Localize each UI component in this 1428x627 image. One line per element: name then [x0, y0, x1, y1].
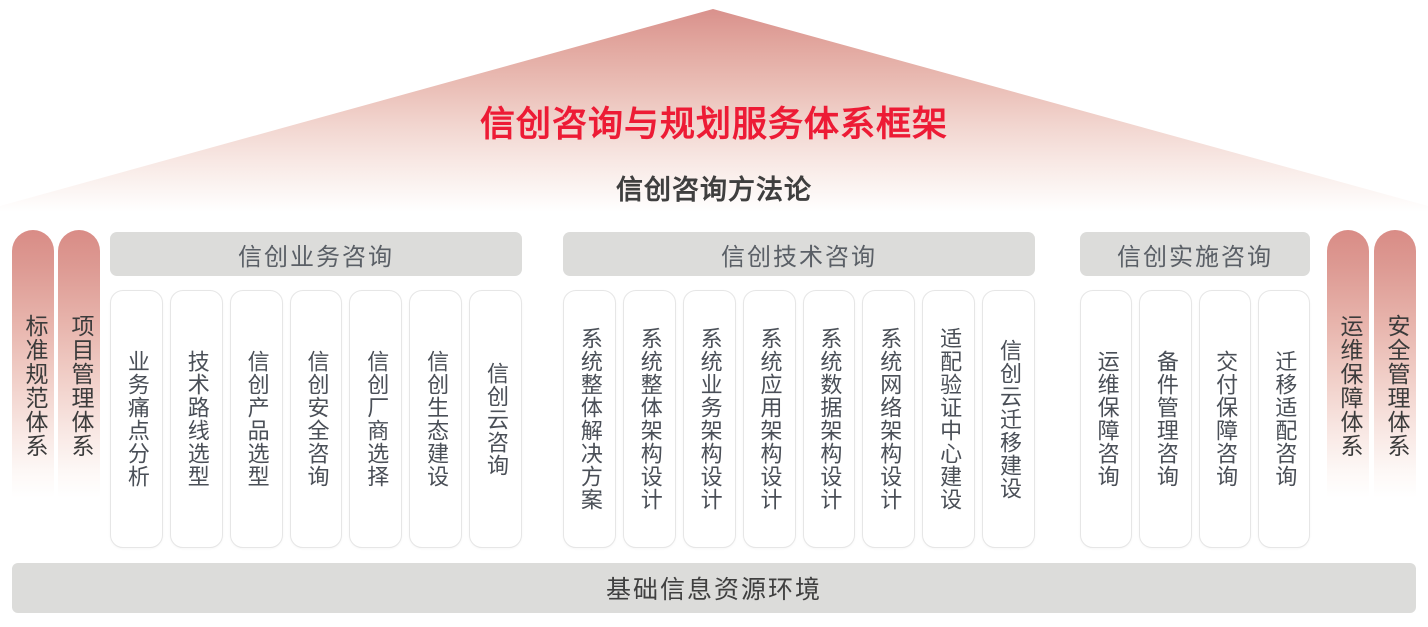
item-label: 运维保障咨询 — [1095, 350, 1118, 488]
item-card[interactable]: 系统整体解决方案 — [563, 290, 616, 548]
item-card[interactable]: 系统网络架构设计 — [862, 290, 915, 548]
item-card[interactable]: 信创云迁移建设 — [982, 290, 1035, 548]
item-card[interactable]: 运维保障咨询 — [1080, 290, 1132, 548]
group-header[interactable]: 信创实施咨询 — [1080, 232, 1310, 276]
pillar-standard-spec-system[interactable]: 标准规范体系 — [12, 230, 54, 498]
item-card[interactable]: 系统数据架构设计 — [803, 290, 856, 548]
item-card[interactable]: 系统业务架构设计 — [683, 290, 736, 548]
item-label: 技术路线选型 — [185, 350, 208, 488]
group-items: 运维保障咨询 备件管理咨询 交付保障咨询 迁移适配咨询 — [1080, 290, 1310, 548]
item-card[interactable]: 信创厂商选择 — [349, 290, 402, 548]
item-card[interactable]: 迁移适配咨询 — [1258, 290, 1310, 548]
pillar-label: 项目管理体系 — [65, 296, 93, 476]
item-card[interactable]: 信创产品选型 — [230, 290, 283, 548]
group-header[interactable]: 信创业务咨询 — [110, 232, 522, 276]
pillar-security-management-system[interactable]: 安全管理体系 — [1374, 230, 1416, 498]
foundation-bar[interactable]: 基础信息资源环境 — [12, 563, 1416, 613]
item-card[interactable]: 系统应用架构设计 — [743, 290, 796, 548]
pillar-ops-guarantee-system[interactable]: 运维保障体系 — [1327, 230, 1369, 498]
item-card[interactable]: 交付保障咨询 — [1199, 290, 1251, 548]
pillar-label: 运维保障体系 — [1334, 296, 1362, 476]
item-card[interactable]: 信创云咨询 — [469, 290, 522, 548]
item-label: 适配验证中心建设 — [937, 327, 960, 511]
group-items: 系统整体解决方案 系统整体架构设计 系统业务架构设计 系统应用架构设计 系统数据… — [563, 290, 1035, 548]
item-label: 业务痛点分析 — [125, 350, 148, 488]
pillar-label: 标准规范体系 — [19, 296, 47, 476]
item-card[interactable]: 技术路线选型 — [170, 290, 223, 548]
item-label: 迁移适配咨询 — [1272, 350, 1295, 488]
item-card[interactable]: 系统整体架构设计 — [623, 290, 676, 548]
diagram-canvas: 信创咨询与规划服务体系框架 信创咨询方法论 标准规范体系 项目管理体系 运维保障… — [0, 0, 1428, 627]
item-card[interactable]: 业务痛点分析 — [110, 290, 163, 548]
group-implementation-consulting: 信创实施咨询 运维保障咨询 备件管理咨询 交付保障咨询 迁移适配咨询 — [1080, 232, 1310, 276]
item-label: 信创云咨询 — [484, 362, 507, 477]
item-card[interactable]: 信创生态建设 — [409, 290, 462, 548]
item-label: 备件管理咨询 — [1154, 350, 1177, 488]
item-label: 系统数据架构设计 — [818, 327, 841, 511]
item-card[interactable]: 备件管理咨询 — [1139, 290, 1191, 548]
item-label: 系统整体架构设计 — [638, 327, 661, 511]
item-label: 信创生态建设 — [424, 350, 447, 488]
group-technology-consulting: 信创技术咨询 系统整体解决方案 系统整体架构设计 系统业务架构设计 系统应用架构… — [563, 232, 1035, 276]
item-card[interactable]: 信创安全咨询 — [290, 290, 343, 548]
item-label: 信创厂商选择 — [364, 350, 387, 488]
item-card[interactable]: 适配验证中心建设 — [922, 290, 975, 548]
group-business-consulting: 信创业务咨询 业务痛点分析 技术路线选型 信创产品选型 信创安全咨询 信创厂商选… — [110, 232, 522, 276]
item-label: 系统应用架构设计 — [758, 327, 781, 511]
item-label: 信创云迁移建设 — [997, 339, 1020, 500]
item-label: 系统业务架构设计 — [698, 327, 721, 511]
group-header[interactable]: 信创技术咨询 — [563, 232, 1035, 276]
group-items: 业务痛点分析 技术路线选型 信创产品选型 信创安全咨询 信创厂商选择 信创生态建… — [110, 290, 522, 548]
item-label: 系统网络架构设计 — [877, 327, 900, 511]
item-label: 系统整体解决方案 — [578, 327, 601, 511]
page-subtitle: 信创咨询方法论 — [0, 168, 1428, 207]
pillar-label: 安全管理体系 — [1381, 296, 1409, 476]
item-label: 交付保障咨询 — [1213, 350, 1236, 488]
item-label: 信创安全咨询 — [305, 350, 328, 488]
pillar-project-management-system[interactable]: 项目管理体系 — [58, 230, 100, 498]
page-title: 信创咨询与规划服务体系框架 — [0, 96, 1428, 147]
item-label: 信创产品选型 — [245, 350, 268, 488]
